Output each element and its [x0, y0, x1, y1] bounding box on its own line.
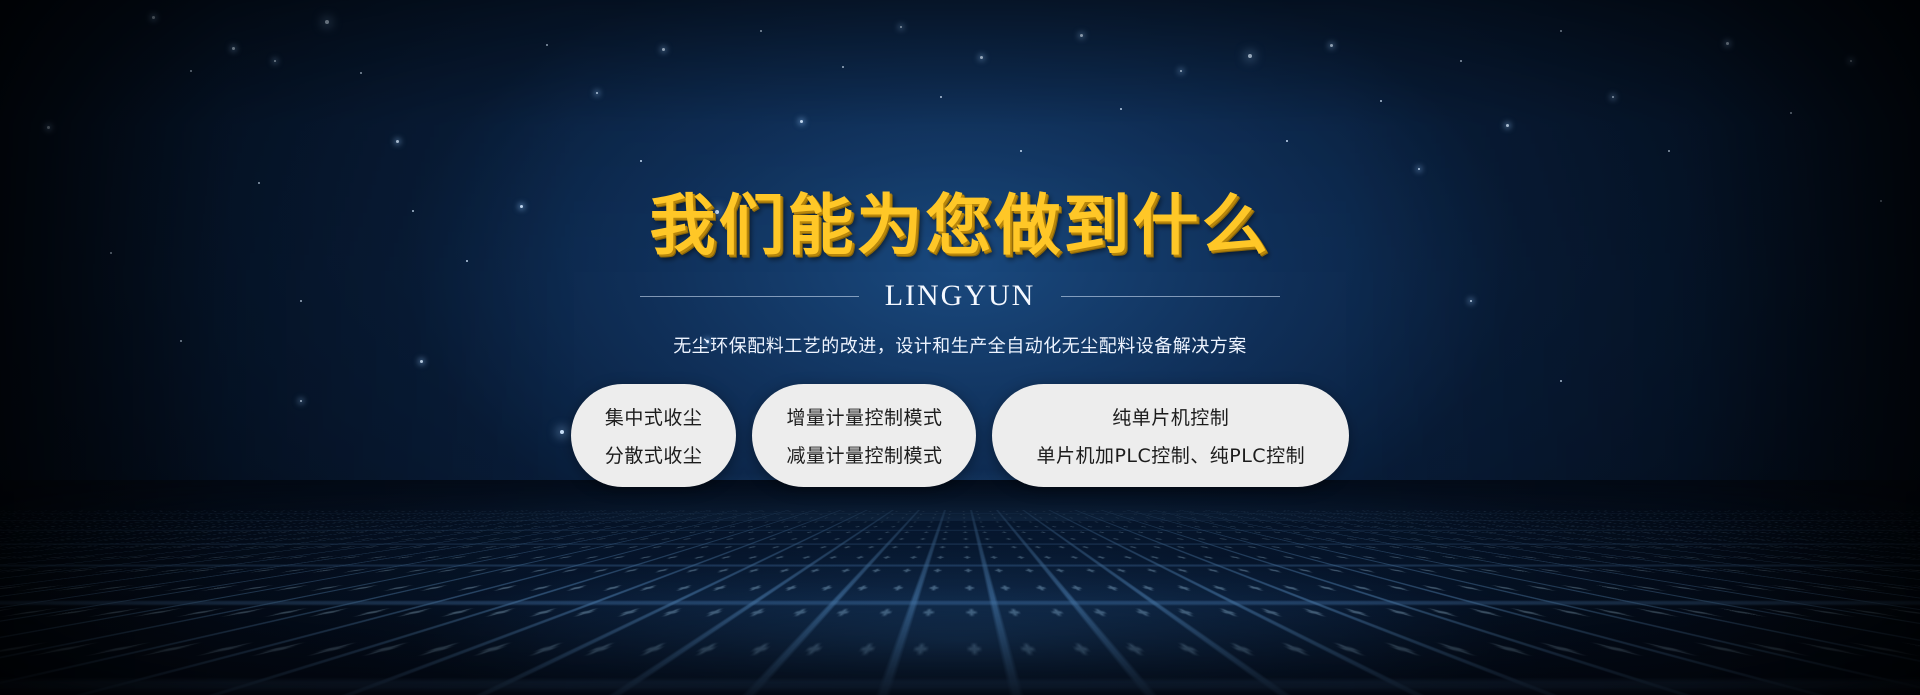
- banner-content: 我们能为您做到什么 LINGYUN 无尘环保配料工艺的改进，设计和生产全自动化无…: [0, 0, 1920, 695]
- feature-pill-dust-collection[interactable]: 集中式收尘 分散式收尘: [571, 384, 737, 487]
- feature-pill-metering-mode[interactable]: 增量计量控制模式 减量计量控制模式: [752, 384, 976, 487]
- pill-line-primary: 纯单片机控制: [1112, 403, 1229, 430]
- pill-line-primary: 增量计量控制模式: [786, 403, 942, 430]
- pill-line-primary: 集中式收尘: [605, 403, 703, 430]
- pill-line-secondary: 分散式收尘: [605, 441, 703, 468]
- feature-pill-group: 集中式收尘 分散式收尘 增量计量控制模式 减量计量控制模式 纯单片机控制 单片机…: [571, 384, 1349, 487]
- divider-line-left: [640, 296, 859, 297]
- divider-line-right: [1061, 296, 1280, 297]
- hero-banner: 我们能为您做到什么 LINGYUN 无尘环保配料工艺的改进，设计和生产全自动化无…: [0, 0, 1920, 695]
- feature-pill-control-system[interactable]: 纯单片机控制 单片机加PLC控制、纯PLC控制: [992, 384, 1349, 487]
- pill-line-secondary: 减量计量控制模式: [786, 441, 942, 468]
- banner-description: 无尘环保配料工艺的改进，设计和生产全自动化无尘配料设备解决方案: [673, 332, 1247, 358]
- page-title: 我们能为您做到什么: [650, 193, 1271, 259]
- brand-subtitle-row: LINGYUN: [640, 279, 1280, 313]
- pill-line-secondary: 单片机加PLC控制、纯PLC控制: [1036, 441, 1305, 468]
- brand-name-en: LINGYUN: [885, 279, 1036, 313]
